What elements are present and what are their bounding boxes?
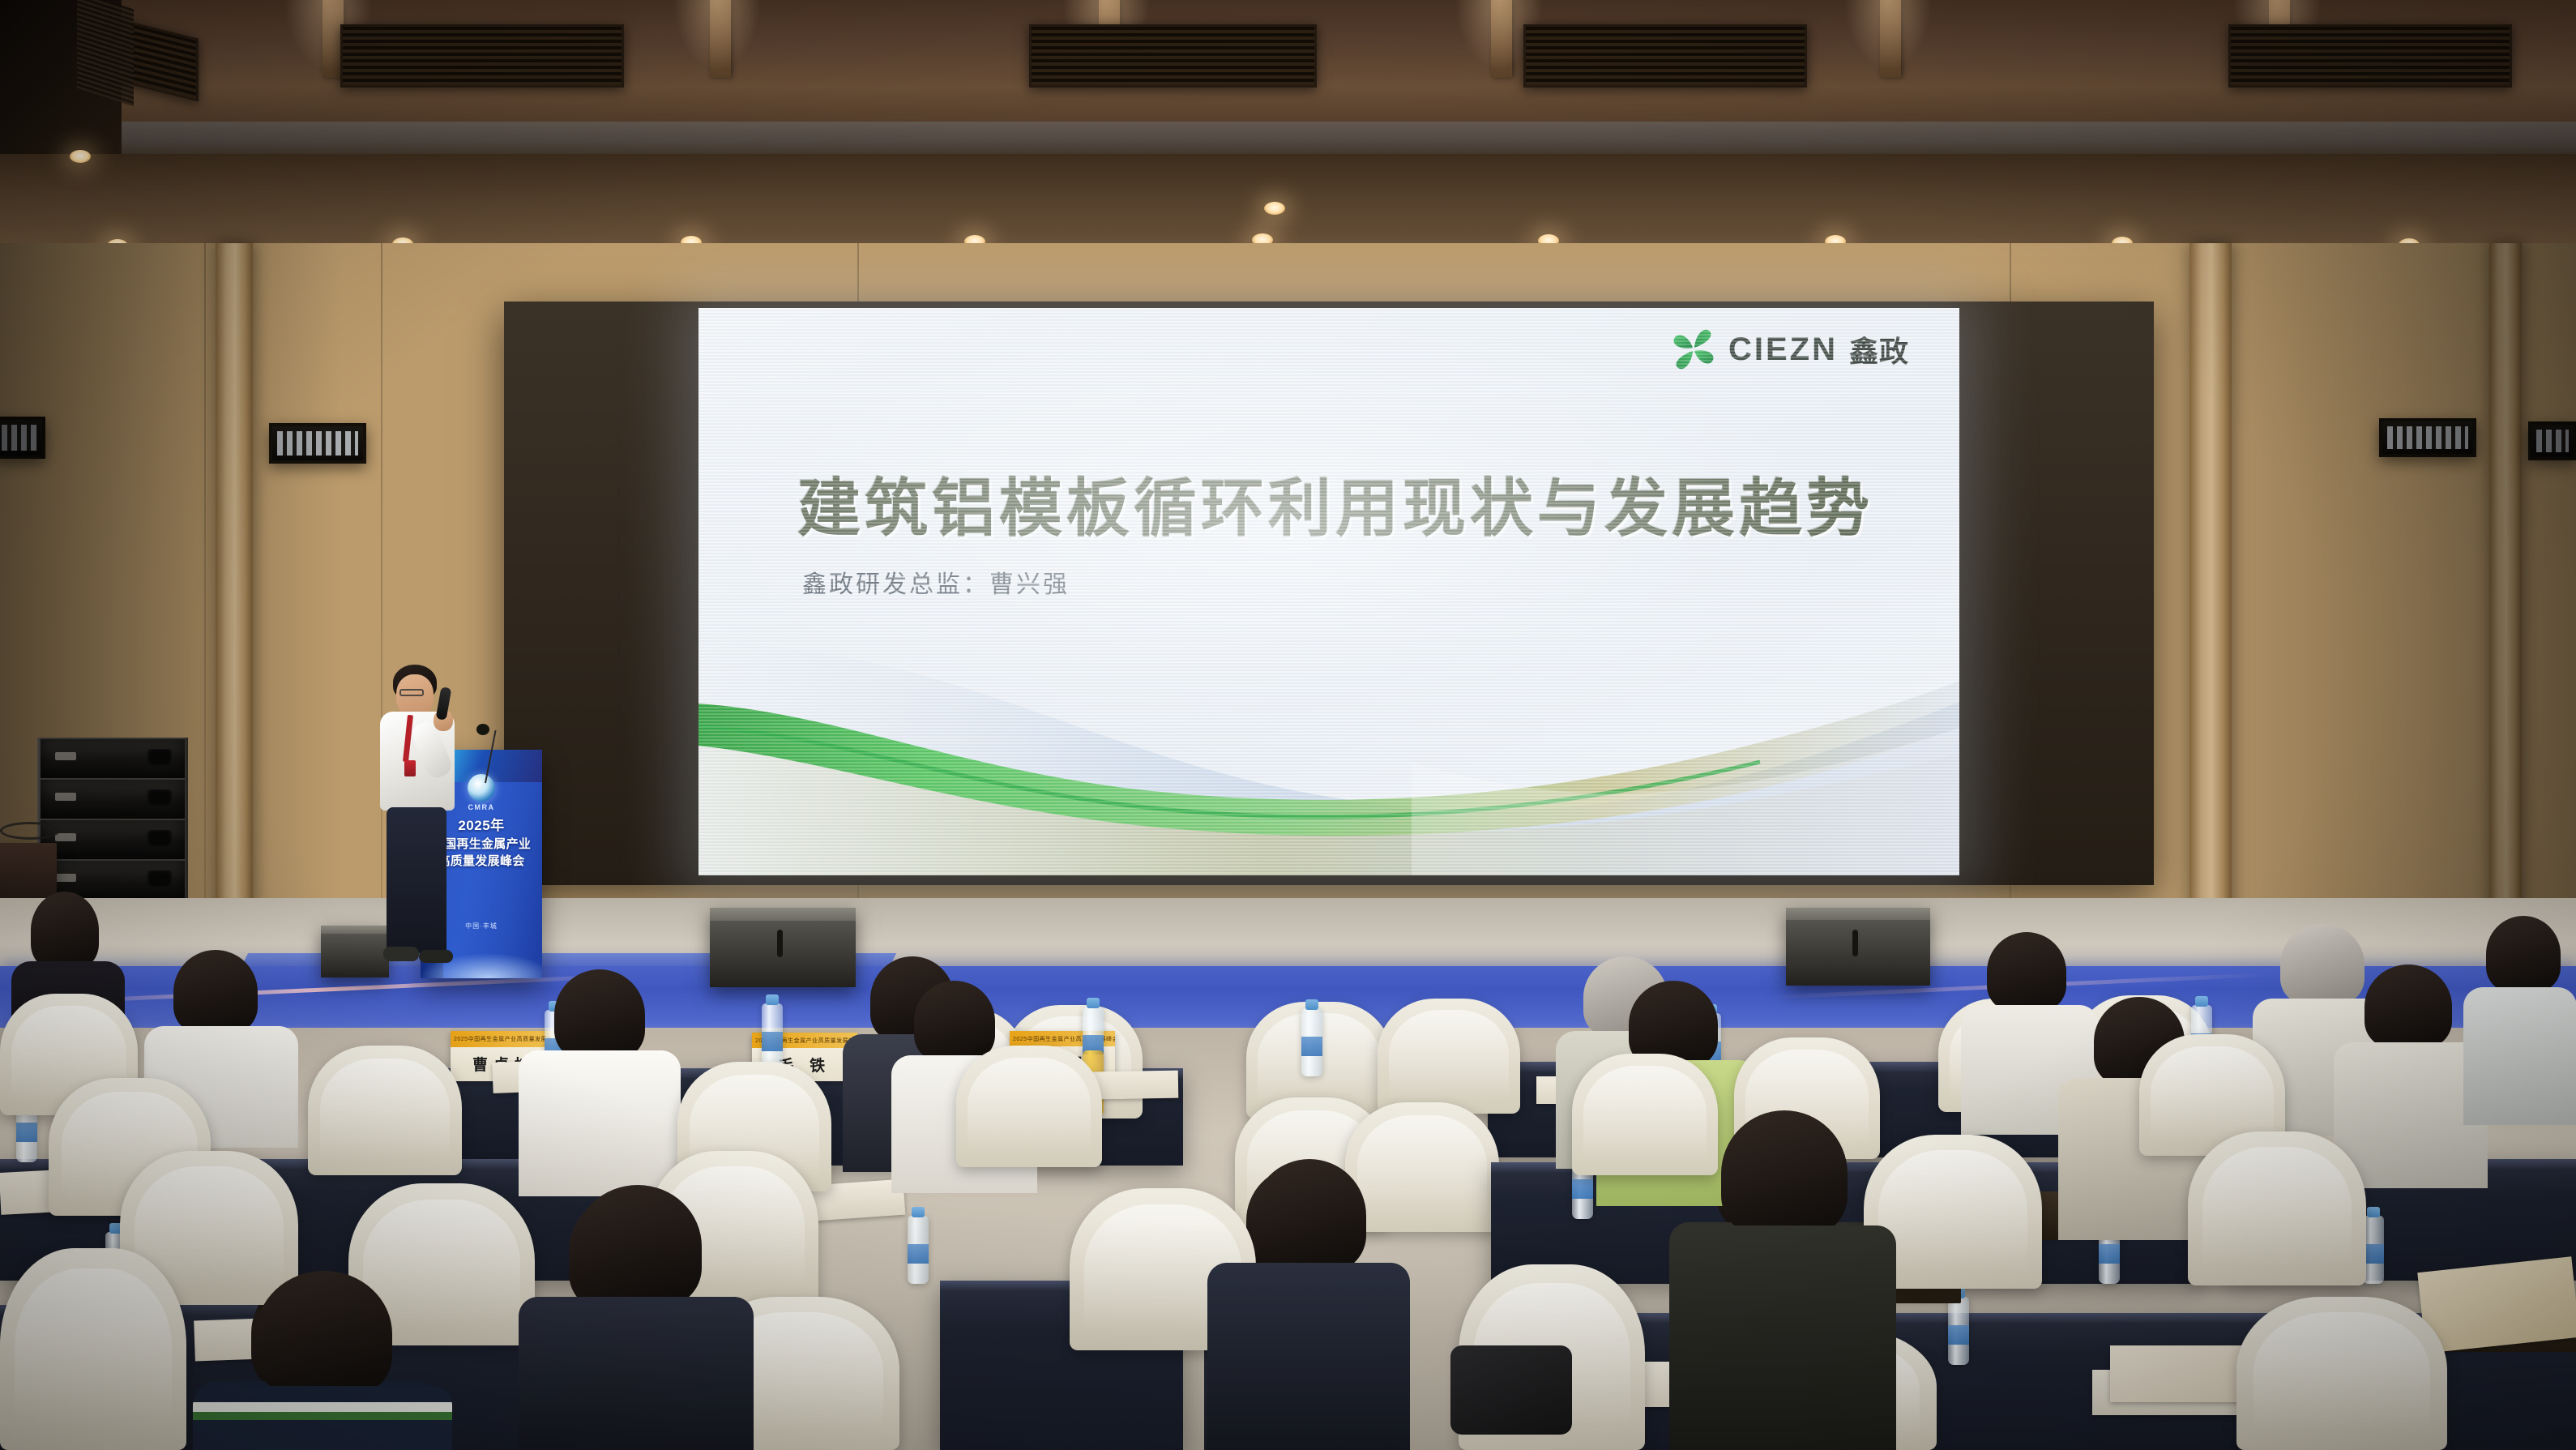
attendee	[193, 1271, 452, 1450]
chair	[0, 1248, 186, 1450]
stage-monitor-speaker	[710, 908, 856, 987]
stage-monitor-speaker	[1786, 908, 1930, 986]
name-badge	[404, 760, 416, 776]
attendee	[2463, 916, 2576, 1110]
wall-pilaster	[216, 243, 253, 989]
water-bottle	[1301, 1008, 1322, 1076]
ceiling-vent	[1523, 24, 1807, 88]
water-bottle	[908, 1216, 929, 1284]
presenter-shoe	[383, 947, 419, 961]
slide-subtitle: 鑫政研发总监：曹兴强	[802, 564, 1070, 600]
attendee	[519, 969, 681, 1180]
slide-logo: CIEZN 鑫政	[1670, 326, 1909, 373]
microphone-icon	[476, 724, 489, 735]
program-booklet	[2417, 1256, 2576, 1353]
downlight	[1264, 202, 1285, 215]
conference-hall-photo: CIEZN 鑫政 建筑铝模板循环利用现状与发展趋势 鑫政研发总监：曹兴强	[0, 0, 2576, 1450]
wall-light-box	[269, 423, 366, 464]
chair	[2188, 1131, 2366, 1285]
water-bottle	[1948, 1297, 1969, 1365]
attendee	[1669, 1110, 1896, 1450]
downlight	[70, 150, 91, 163]
ciezn-petal-icon	[1670, 326, 1717, 373]
presenter	[369, 665, 466, 981]
cable-coil	[0, 822, 60, 840]
chair	[956, 1046, 1102, 1167]
wall-light-box	[2528, 421, 2576, 460]
projection-screen: CIEZN 鑫政 建筑铝模板循环利用现状与发展趋势 鑫政研发总监：曹兴强	[698, 308, 1959, 875]
cmra-logo-label: CMRA	[468, 803, 495, 811]
glasses-icon	[399, 689, 424, 696]
chair	[308, 1046, 462, 1175]
attendee	[519, 1185, 754, 1450]
chair	[1378, 999, 1520, 1114]
chair	[2236, 1297, 2447, 1450]
slide-title: 建筑铝模板循环利用现状与发展趋势	[797, 458, 1873, 549]
presenter-shoe	[419, 950, 453, 963]
cmra-logo-icon	[468, 774, 495, 802]
wall-pilaster	[2489, 243, 2522, 989]
bag	[1450, 1345, 1572, 1435]
wall-light-box	[0, 417, 45, 459]
ceiling-vent	[1029, 24, 1317, 88]
ceiling-vent	[2228, 24, 2512, 88]
slide-wave-graphic	[698, 632, 1959, 875]
slide-logo-chinese: 鑫政	[1849, 328, 1909, 370]
slide-logo-latin: CIEZN	[1728, 331, 1838, 368]
wall-pilaster	[2189, 243, 2232, 989]
wall-light-box	[2379, 418, 2476, 457]
attendee	[1207, 1159, 1410, 1450]
ceiling-grille-left	[77, 0, 134, 106]
ceiling-vent	[340, 24, 624, 88]
presenter-trousers	[387, 807, 446, 953]
